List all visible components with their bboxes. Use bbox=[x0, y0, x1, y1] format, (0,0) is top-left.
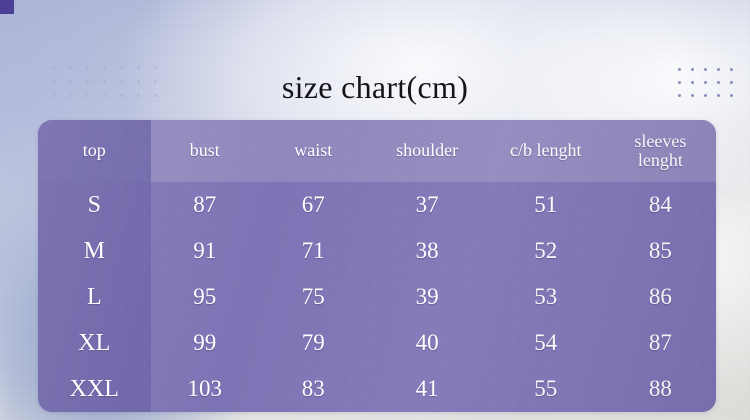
cell-cb-lenght: 52 bbox=[487, 228, 605, 274]
cell-size: XL bbox=[38, 320, 151, 366]
cell-waist: 79 bbox=[259, 320, 367, 366]
cell-shoulder: 38 bbox=[367, 228, 486, 274]
column-header-sleeves-line1: sleeves bbox=[634, 131, 686, 151]
cell-size: L bbox=[38, 274, 151, 320]
column-header-top: top bbox=[38, 120, 151, 182]
size-chart-table: top bust waist shoulder c/b lenght sleev… bbox=[38, 120, 716, 412]
cell-sleeves-lenght: 87 bbox=[605, 320, 716, 366]
cell-sleeves-lenght: 85 bbox=[605, 228, 716, 274]
cell-waist: 71 bbox=[259, 228, 367, 274]
cell-shoulder: 40 bbox=[367, 320, 486, 366]
cell-waist: 75 bbox=[259, 274, 367, 320]
table-body: S 87 67 37 51 84 M 91 71 38 52 85 L bbox=[38, 182, 716, 412]
corner-accent-square bbox=[0, 0, 14, 14]
column-header-sleeves-line2: lenght bbox=[638, 150, 683, 170]
cell-waist: 67 bbox=[259, 182, 367, 228]
cell-shoulder: 37 bbox=[367, 182, 486, 228]
cell-size: S bbox=[38, 182, 151, 228]
cell-sleeves-lenght: 86 bbox=[605, 274, 716, 320]
cell-cb-lenght: 55 bbox=[487, 366, 605, 412]
cell-waist: 83 bbox=[259, 366, 367, 412]
cell-sleeves-lenght: 84 bbox=[605, 182, 716, 228]
table-header: top bust waist shoulder c/b lenght sleev… bbox=[38, 120, 716, 182]
cell-cb-lenght: 54 bbox=[487, 320, 605, 366]
cell-bust: 95 bbox=[151, 274, 259, 320]
cell-cb-lenght: 51 bbox=[487, 182, 605, 228]
cell-bust: 99 bbox=[151, 320, 259, 366]
size-chart-image: size chart(cm) top bust waist shoulder c… bbox=[0, 0, 750, 420]
cell-shoulder: 39 bbox=[367, 274, 486, 320]
column-header-waist: waist bbox=[259, 120, 367, 182]
column-header-bust: bust bbox=[151, 120, 259, 182]
cell-size: M bbox=[38, 228, 151, 274]
cell-bust: 103 bbox=[151, 366, 259, 412]
cell-shoulder: 41 bbox=[367, 366, 486, 412]
cell-bust: 91 bbox=[151, 228, 259, 274]
cell-bust: 87 bbox=[151, 182, 259, 228]
column-header-shoulder: shoulder bbox=[367, 120, 486, 182]
size-chart-table-container: top bust waist shoulder c/b lenght sleev… bbox=[38, 120, 716, 412]
table-header-row: top bust waist shoulder c/b lenght sleev… bbox=[38, 120, 716, 182]
cell-cb-lenght: 53 bbox=[487, 274, 605, 320]
page-title: size chart(cm) bbox=[0, 69, 750, 106]
cell-size: XXL bbox=[38, 366, 151, 412]
table-row: XL 99 79 40 54 87 bbox=[38, 320, 716, 366]
cell-sleeves-lenght: 88 bbox=[605, 366, 716, 412]
column-header-cb-lenght: c/b lenght bbox=[487, 120, 605, 182]
table-row: XXL 103 83 41 55 88 bbox=[38, 366, 716, 412]
table-row: L 95 75 39 53 86 bbox=[38, 274, 716, 320]
table-row: M 91 71 38 52 85 bbox=[38, 228, 716, 274]
column-header-sleeves-lenght: sleeves lenght bbox=[605, 120, 716, 182]
table-row: S 87 67 37 51 84 bbox=[38, 182, 716, 228]
